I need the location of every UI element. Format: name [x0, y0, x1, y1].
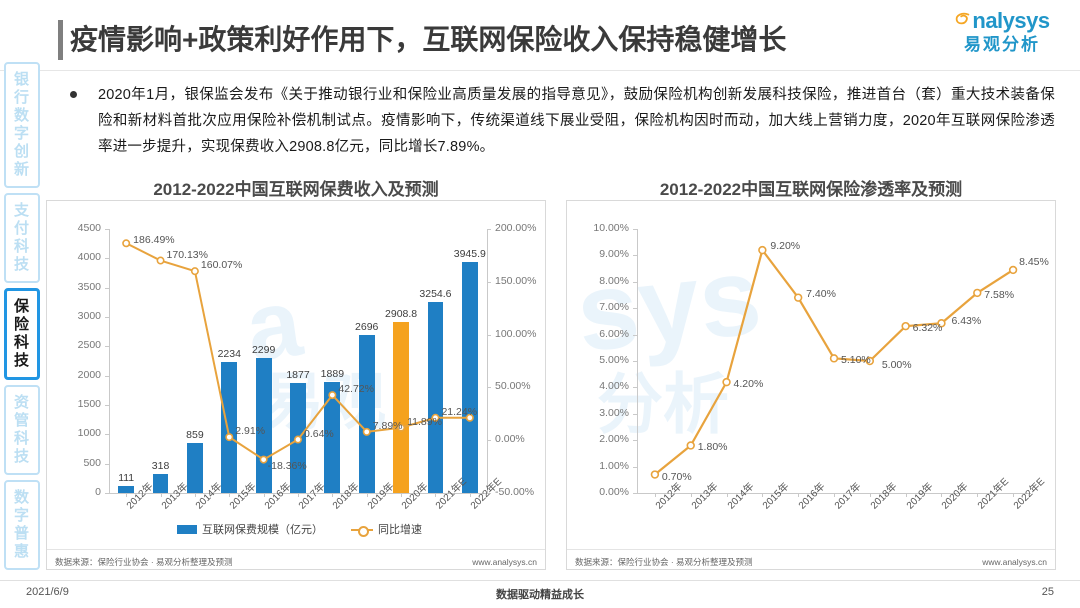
logo-wordmark: nalysys — [942, 8, 1062, 34]
left-chart-panel: a 易观 05001000150020002500300035004000450… — [46, 200, 546, 570]
line-value-label: 7.40% — [806, 288, 836, 300]
sidebar-item-bank[interactable]: 银行数字创新 — [4, 62, 40, 188]
line-value-label: 6.43% — [951, 315, 981, 327]
legend-line-swatch — [351, 525, 373, 534]
left-chart-legend: 互联网保费规模（亿元）同比增速 — [177, 521, 422, 537]
source-url: www.analysys.cn — [982, 557, 1047, 567]
legend-bar-label: 互联网保费规模（亿元） — [202, 521, 323, 537]
logo-chinese: 易观分析 — [942, 34, 1062, 56]
line-value-label: 160.07% — [201, 259, 242, 271]
source-url: www.analysys.cn — [472, 557, 537, 567]
line-value-label: 0.64% — [304, 428, 334, 440]
growth-rate-line — [47, 201, 547, 571]
line-value-label: 9.20% — [770, 240, 800, 252]
body-bullet: 2020年1月，银保监会发布《关于推动银行业和保险业高质量发展的指导意见》，鼓励… — [70, 82, 1055, 160]
line-value-label: 21.24% — [441, 406, 477, 418]
left-chart-source: 数据来源：保险行业协会 · 易观分析整理及预测 www.analysys.cn — [47, 549, 545, 569]
legend-line-label: 同比增速 — [378, 521, 422, 537]
logo-word-rest: nalysys — [972, 8, 1049, 33]
sidebar-item-label: 银行数字创新 — [8, 71, 36, 179]
page-footer: 2021/6/9 数据驱动精益成长 25 — [0, 583, 1080, 608]
line-value-label: 8.45% — [1019, 256, 1049, 268]
footer-page-number: 25 — [1042, 586, 1054, 598]
footer-tagline: 数据驱动精益成长 — [0, 586, 1080, 602]
bullet-dot-icon — [70, 91, 77, 98]
source-text: 数据来源：保险行业协会 · 易观分析整理及预测 — [575, 556, 753, 568]
sidebar-item-label: 资管科技 — [8, 394, 36, 466]
line-value-label: 5.00% — [882, 359, 912, 371]
line-value-label: 2.91% — [235, 425, 265, 437]
line-value-label: 7.58% — [984, 289, 1014, 301]
line-value-label: 7.89% — [373, 420, 403, 432]
line-value-label: 11.89% — [407, 416, 442, 428]
line-value-label: -18.36% — [268, 460, 307, 472]
footer-divider — [0, 580, 1080, 581]
line-value-label: 4.20% — [734, 378, 764, 390]
page-header: 疫情影响+政策利好作用下，互联网保险收入保持稳健增长 nalysys 易观分析 — [0, 0, 1080, 72]
penetration-rate-line — [567, 201, 1057, 571]
sidebar-item-asset[interactable]: 资管科技 — [4, 385, 40, 475]
source-text: 数据来源：保险行业协会 · 易观分析整理及预测 — [55, 556, 233, 568]
header-divider — [0, 70, 1080, 71]
sidebar-item-payment[interactable]: 支付科技 — [4, 193, 40, 283]
sidebar: 银行数字创新 支付科技 保险科技 资管科技 数字普惠 — [4, 62, 44, 562]
analysys-logo: nalysys 易观分析 — [942, 8, 1062, 64]
line-value-label: 186.49% — [133, 234, 174, 246]
right-chart-source: 数据来源：保险行业协会 · 易观分析整理及预测 www.analysys.cn — [567, 549, 1055, 569]
line-value-label: 1.80% — [698, 441, 728, 453]
sidebar-item-label: 数字普惠 — [8, 489, 36, 561]
logo-swirl-icon — [954, 11, 972, 29]
line-value-label: 0.70% — [662, 471, 692, 483]
title-accent-bar — [58, 20, 63, 60]
left-chart-title: 2012-2022中国互联网保费收入及预测 — [46, 175, 546, 200]
legend-item-bars: 互联网保费规模（亿元） — [177, 521, 323, 537]
line-value-label: 6.32% — [913, 322, 943, 334]
right-chart-panel: sys 分析 0.00%1.00%2.00%3.00%4.00%5.00%6.0… — [566, 200, 1056, 570]
sidebar-item-label: 保险科技 — [9, 298, 35, 370]
sidebar-item-label: 支付科技 — [8, 202, 36, 274]
line-value-label: 5.10% — [841, 354, 871, 366]
bullet-text: 2020年1月，银保监会发布《关于推动银行业和保险业高质量发展的指导意见》，鼓励… — [98, 82, 1055, 160]
legend-item-line: 同比增速 — [351, 521, 422, 537]
page-title: 疫情影响+政策利好作用下，互联网保险收入保持稳健增长 — [70, 20, 786, 60]
line-value-label: 42.72% — [338, 383, 374, 395]
right-chart-title: 2012-2022中国互联网保险渗透率及预测 — [566, 175, 1056, 200]
sidebar-item-inclusive[interactable]: 数字普惠 — [4, 480, 40, 570]
sidebar-item-insurance[interactable]: 保险科技 — [4, 288, 40, 380]
legend-bar-swatch — [177, 525, 197, 534]
